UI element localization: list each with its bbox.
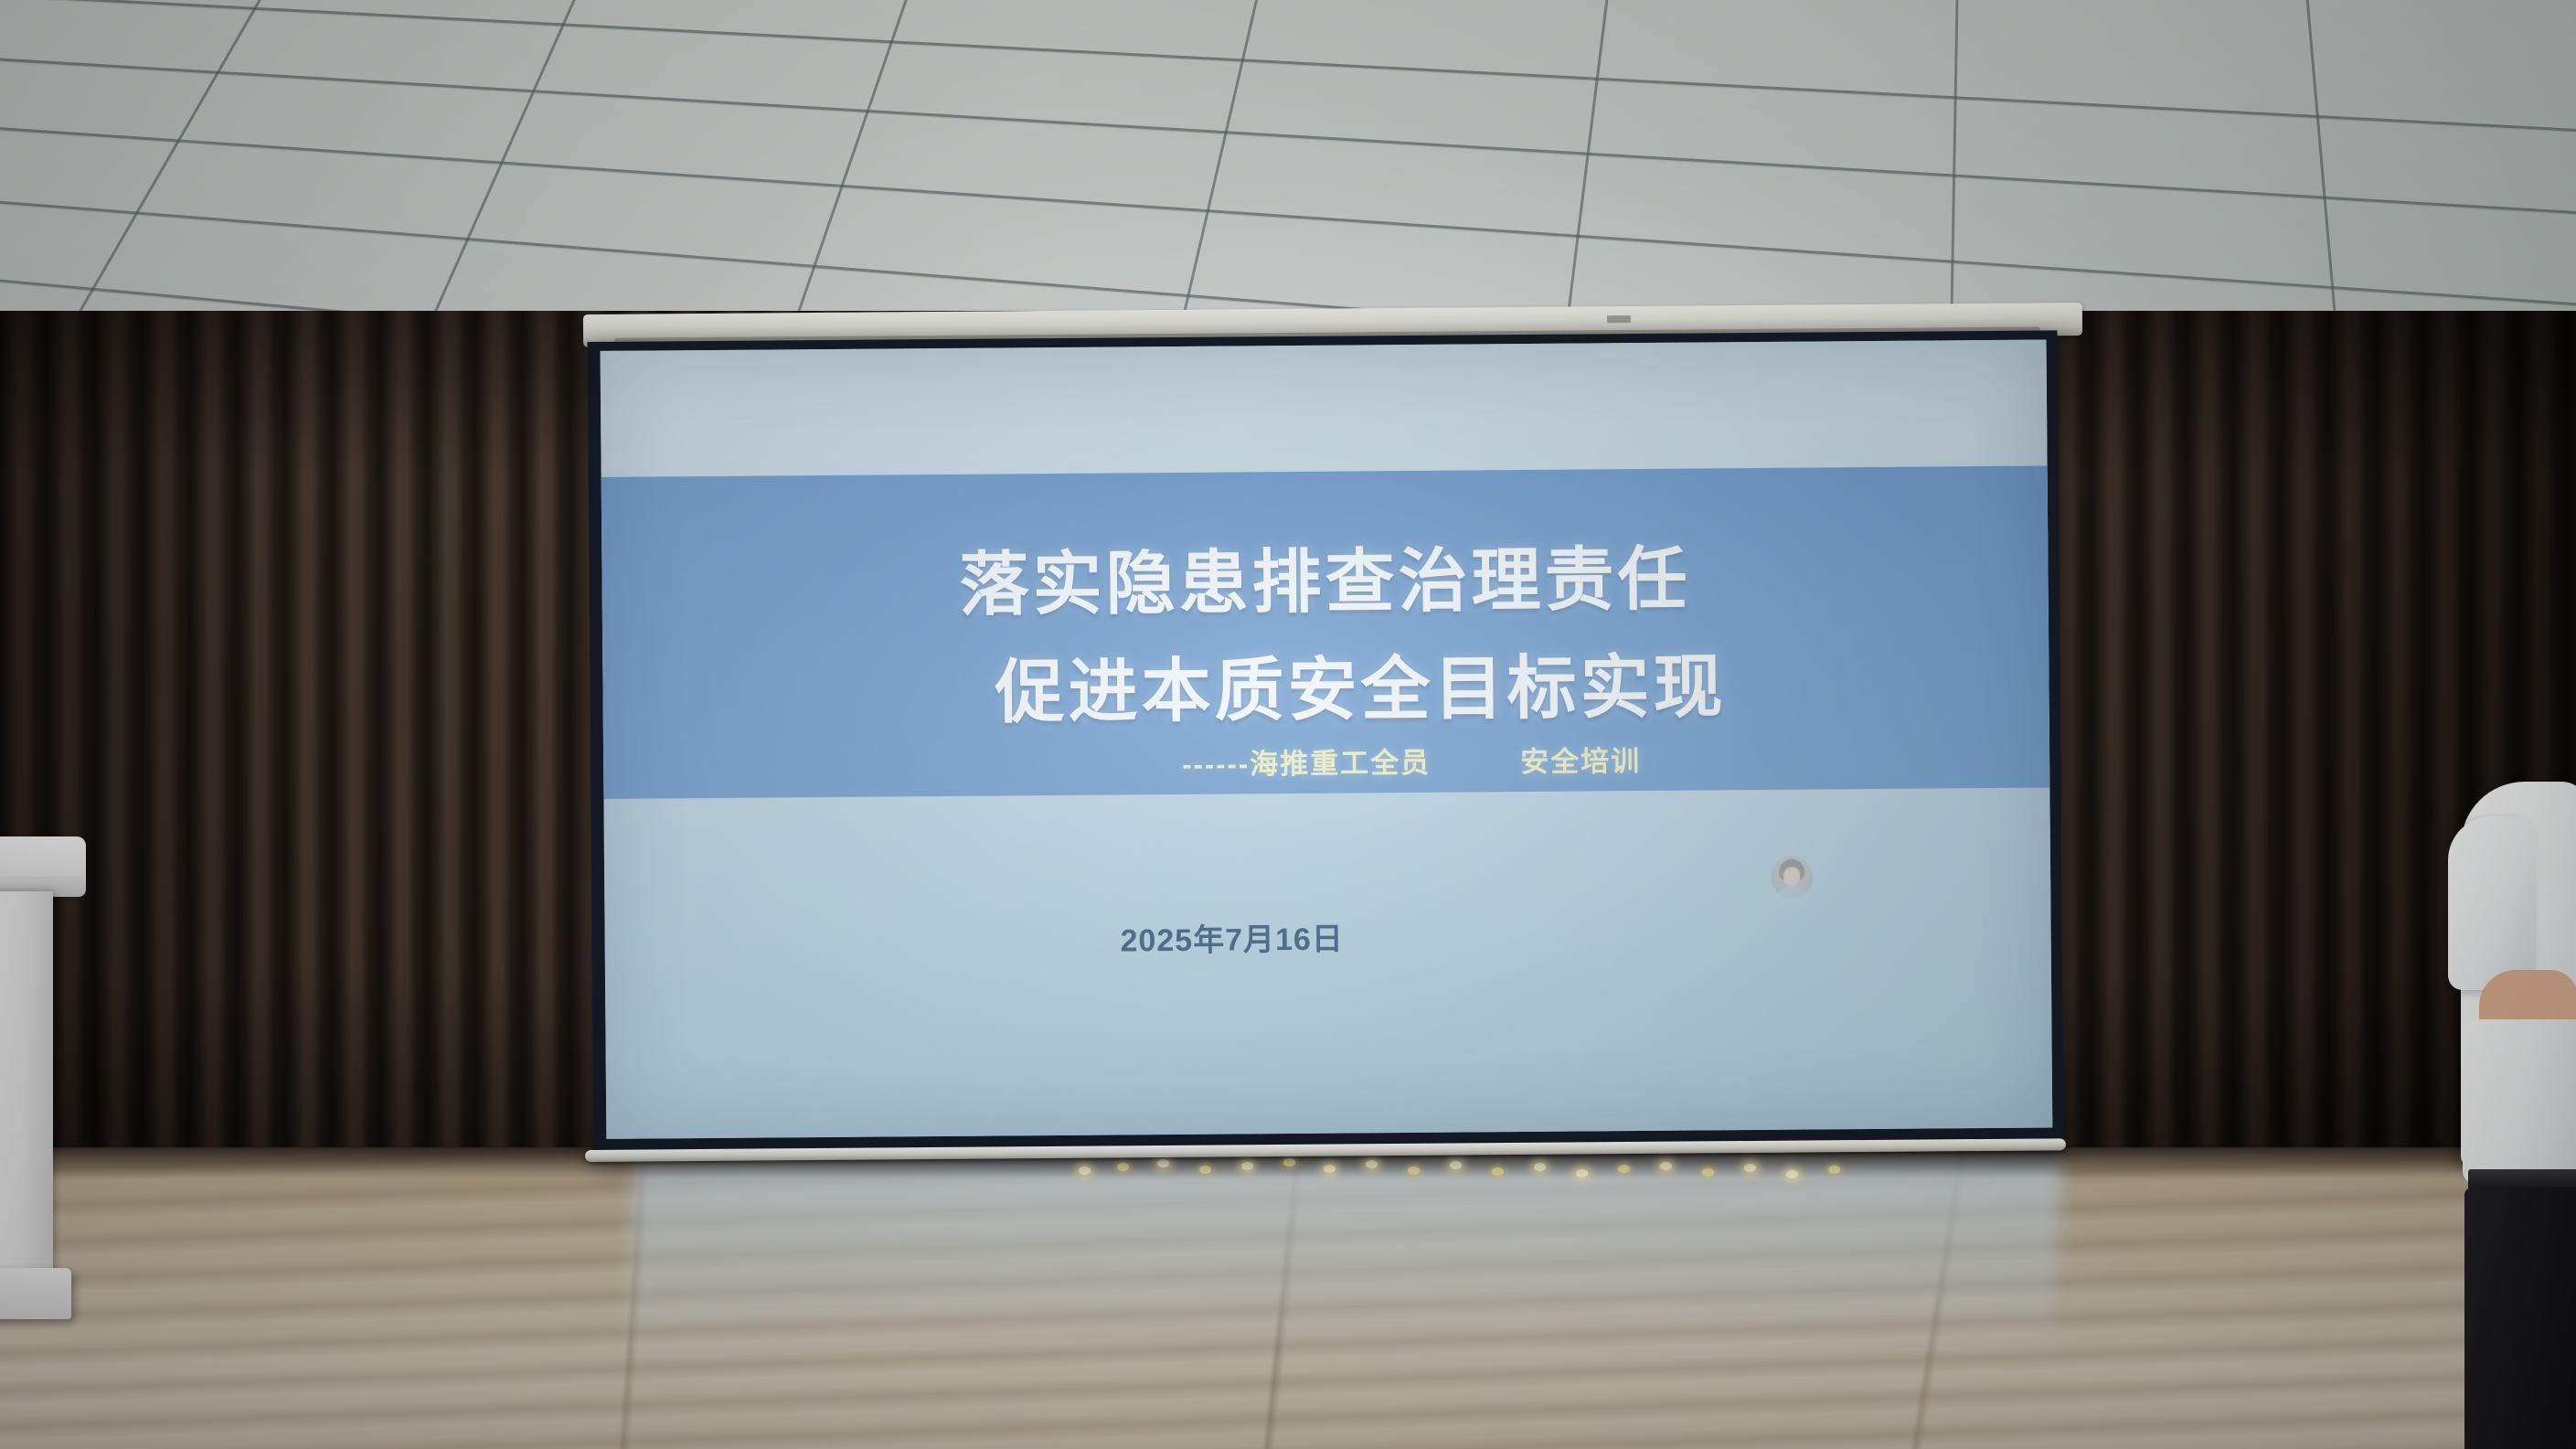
person-shirt-lower: [2463, 1019, 2576, 1184]
avatar-body: [1775, 886, 1808, 899]
lectern-column: [0, 891, 53, 1275]
person-sleeve: [2448, 816, 2536, 990]
standing-person: [2373, 782, 2576, 1449]
slide-date: 2025年7月16日: [604, 908, 2050, 964]
white-lectern: [0, 836, 93, 1348]
projector-light-spill: [625, 1147, 2063, 1361]
conference-room-photo: 落实隐患排查治理责任 促进本质安全目标实现 ------海推重工全员 安全培训 …: [0, 0, 2576, 1449]
projection-screen-assembly: 落实隐患排查治理责任 促进本质安全目标实现 ------海推重工全员 安全培训 …: [591, 322, 2060, 1177]
slide-subtitle-right: 安全培训: [1520, 738, 1641, 780]
lectern-top: [0, 836, 86, 893]
projection-screen: 落实隐患排查治理责任 促进本质安全目标实现 ------海推重工全员 安全培训 …: [588, 330, 2064, 1156]
lectern-base: [0, 1268, 71, 1319]
presentation-slide: 落实隐患排查治理责任 促进本质安全目标实现 ------海推重工全员 安全培训 …: [601, 339, 2053, 1138]
presenter-avatar-icon: [1771, 857, 1813, 899]
wood-plank-floor: [0, 1147, 2576, 1449]
slide-subtitle-left: ------海推重工全员: [1182, 740, 1431, 783]
projection-surface: 落实隐患排查治理责任 促进本质安全目标实现 ------海推重工全员 安全培训 …: [601, 339, 2053, 1138]
person-trousers: [2464, 1188, 2576, 1449]
avatar-face: [1783, 868, 1800, 886]
slide-title-line-1: 落实隐患排查治理责任: [601, 542, 2049, 623]
slide-title-line-2: 促进本质安全目标实现: [602, 650, 2049, 730]
roller-brand-label: [1607, 315, 1631, 323]
